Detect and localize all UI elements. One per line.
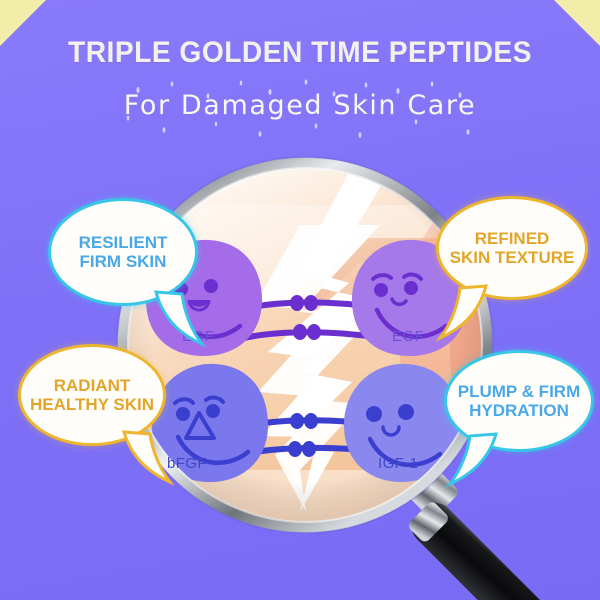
bubble-tail-resilient: [150, 288, 220, 350]
bubble-line-2: HEALTHY SKIN: [30, 395, 154, 414]
bubble-line-1: RESILIENT: [79, 233, 168, 252]
page-subtitle: For Damaged Skin Care: [0, 90, 600, 121]
bubble-line-1: RADIANT: [54, 376, 131, 395]
bubble-line-2: FIRM SKIN: [80, 252, 167, 271]
bubble-line-2: HYDRATION: [469, 401, 569, 420]
bubble-line-1: PLUMP & FIRM: [458, 382, 580, 401]
page-title: TRIPLE GOLDEN TIME PEPTIDES: [18, 36, 582, 70]
bubble-line-1: REFINED: [475, 229, 550, 248]
poster-canvas: TRIPLE GOLDEN TIME PEPTIDES For Damaged …: [0, 0, 600, 600]
bubble-line-2: SKIN TEXTURE: [450, 248, 575, 267]
bubble-tail-plump: [432, 430, 502, 490]
bubble-tail-refined: [422, 282, 492, 344]
bubble-tail-radiant: [118, 428, 188, 488]
